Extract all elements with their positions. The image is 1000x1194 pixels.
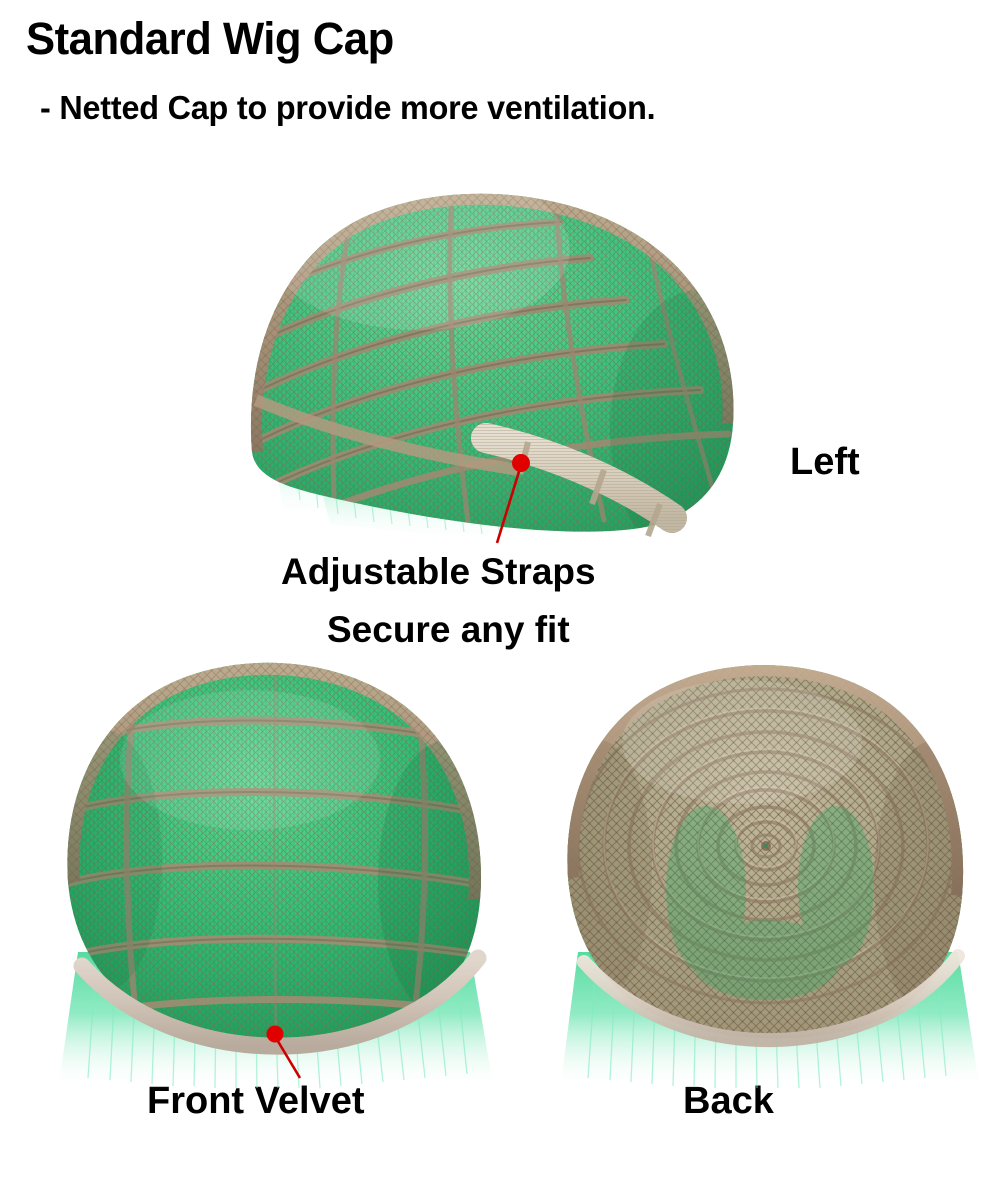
- back-view-fringe: [560, 952, 980, 1090]
- wig-cap-illustrations: [0, 0, 1000, 1194]
- front-view-illustration: [50, 640, 518, 1090]
- page-title: Standard Wig Cap: [26, 14, 394, 64]
- adjustable-strap: [486, 438, 672, 536]
- back-view-cap-body: [544, 640, 998, 1060]
- label-secure-any-fit: Secure any fit: [327, 608, 570, 652]
- front-velvet-callout: [267, 1026, 301, 1079]
- front-view-fringe: [58, 952, 494, 1090]
- infographic-page: Standard Wig Cap - Netted Cap to provide…: [0, 0, 1000, 1194]
- front-velvet-band: [82, 958, 478, 1046]
- label-back-view: Back: [683, 1079, 774, 1124]
- back-view-rim: [584, 956, 958, 1040]
- red-dot-marker: [512, 454, 530, 472]
- label-adjustable-straps: Adjustable Straps: [281, 550, 596, 594]
- adjustable-straps-callout: [497, 454, 530, 543]
- back-view-illustration: [544, 640, 998, 1090]
- left-view-cap-body: [240, 170, 790, 570]
- label-front-velvet: Front Velvet: [147, 1079, 365, 1124]
- leader-line: [497, 465, 521, 543]
- page-subtitle: - Netted Cap to provide more ventilation…: [40, 88, 655, 128]
- red-dot-marker: [267, 1026, 284, 1043]
- front-view-cap-body: [50, 640, 518, 1060]
- label-left-view: Left: [790, 440, 860, 485]
- leader-line: [276, 1038, 300, 1078]
- left-view-fringe: [262, 392, 540, 546]
- left-view-illustration: [240, 170, 790, 570]
